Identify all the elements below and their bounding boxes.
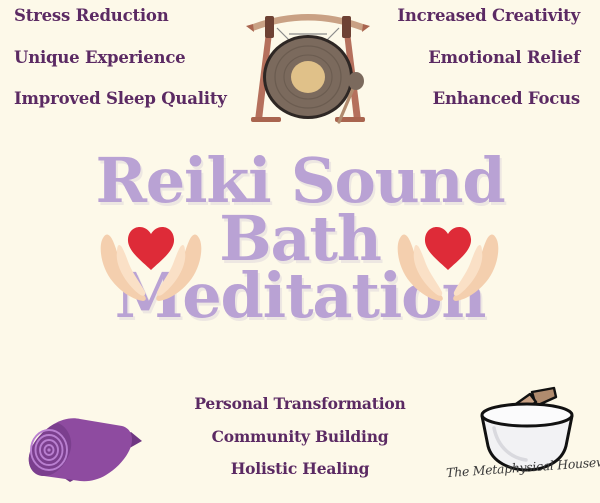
benefit-item: Stress Reduction [14, 8, 169, 25]
benefit-item: Enhanced Focus [433, 91, 580, 108]
title-line-2: Bath [0, 210, 600, 268]
title-line-3: Meditation [0, 267, 600, 325]
benefit-item: Increased Creativity [397, 8, 580, 25]
title-line-1: Reiki Sound [0, 152, 600, 210]
rolled-yoga-mat-icon [18, 406, 146, 496]
page-title: Reiki Sound Bath Meditation [0, 152, 600, 325]
hands-holding-heart-icon [95, 222, 207, 304]
benefit-item: Emotional Relief [428, 50, 580, 67]
benefits-left-column: Stress Reduction Unique Experience Impro… [14, 8, 227, 108]
benefits-right-column: Increased Creativity Emotional Relief En… [397, 8, 580, 108]
gong-icon [243, 4, 373, 128]
hands-holding-heart-icon [392, 222, 504, 304]
poster-canvas: Stress Reduction Unique Experience Impro… [0, 0, 600, 503]
benefit-item: Unique Experience [14, 50, 185, 67]
benefit-item: Improved Sleep Quality [14, 91, 227, 108]
